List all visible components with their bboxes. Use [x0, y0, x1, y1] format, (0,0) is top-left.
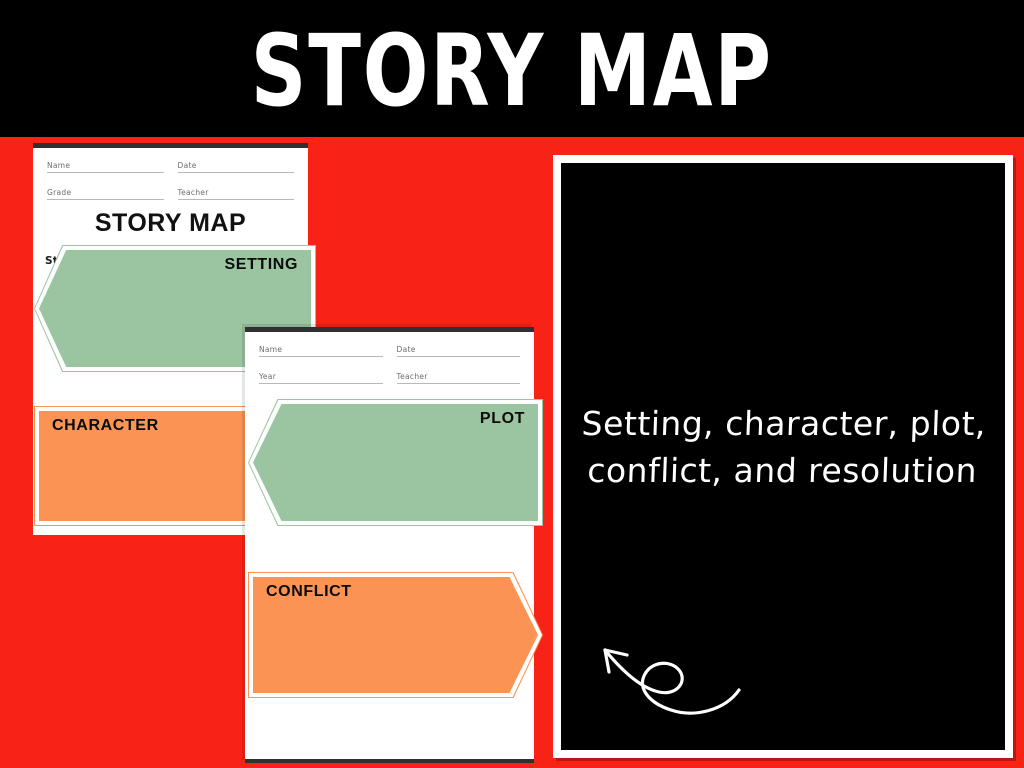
sheet-top-edge [33, 143, 308, 148]
field-underline [178, 172, 295, 173]
field-row: Name Date [47, 155, 294, 173]
date-field[interactable]: Date [178, 155, 295, 173]
info-card: Setting, character, plot, conflict, and … [561, 163, 1005, 750]
field-underline [47, 199, 164, 200]
page-title: STORY MAP [251, 21, 773, 120]
field-underline [259, 383, 383, 384]
banner-plot[interactable]: PLOT [253, 404, 538, 521]
teacher-field[interactable]: Teacher [178, 182, 295, 200]
field-underline [397, 383, 521, 384]
field-underline [397, 356, 521, 357]
banner-setting-label: SETTING [224, 256, 298, 274]
date-field-label: Date [178, 161, 200, 170]
worksheet-setting-fields: Name Date Grade Teacher [33, 143, 308, 200]
field-underline [178, 199, 295, 200]
field-underline [47, 172, 164, 173]
sheet-top-edge [245, 327, 534, 332]
name-field-label: Name [47, 161, 73, 170]
banner-plot-label: PLOT [480, 410, 525, 428]
name-field[interactable]: Name [259, 339, 383, 357]
name-field[interactable]: Name [47, 155, 164, 173]
year-field[interactable]: Year [259, 366, 383, 384]
worksheet-title: STORY MAP [33, 209, 308, 238]
banner-conflict[interactable]: CONFLICT [253, 577, 538, 693]
sheet-bottom-edge [245, 759, 534, 763]
curly-arrow-up-left-icon [575, 614, 755, 724]
date-field[interactable]: Date [397, 339, 521, 357]
banner-character-label: CHARACTER [52, 417, 159, 435]
grade-field-label: Grade [47, 188, 74, 197]
field-row: Name Date [259, 339, 520, 357]
date-field-label: Date [397, 345, 419, 354]
banner-conflict-label: CONFLICT [266, 583, 352, 601]
header-bar: STORY MAP [0, 0, 1024, 137]
name-field-label: Name [259, 345, 285, 354]
info-card-text: Setting, character, plot, conflict, and … [559, 401, 1006, 495]
teacher-field-label: Teacher [178, 188, 212, 197]
worksheet-plot[interactable]: Name Date Year Teacher [245, 327, 534, 763]
field-underline [259, 356, 383, 357]
year-field-label: Year [259, 372, 279, 381]
worksheet-plot-fields: Name Date Year Teacher [245, 327, 534, 384]
teacher-field-label: Teacher [397, 372, 431, 381]
field-row: Grade Teacher [47, 182, 294, 200]
teacher-field[interactable]: Teacher [397, 366, 521, 384]
info-card-frame: Setting, character, plot, conflict, and … [553, 155, 1013, 758]
grade-field[interactable]: Grade [47, 182, 164, 200]
field-row: Year Teacher [259, 366, 520, 384]
red-canvas: Name Date Grade Teacher STORY MA [0, 137, 1024, 768]
